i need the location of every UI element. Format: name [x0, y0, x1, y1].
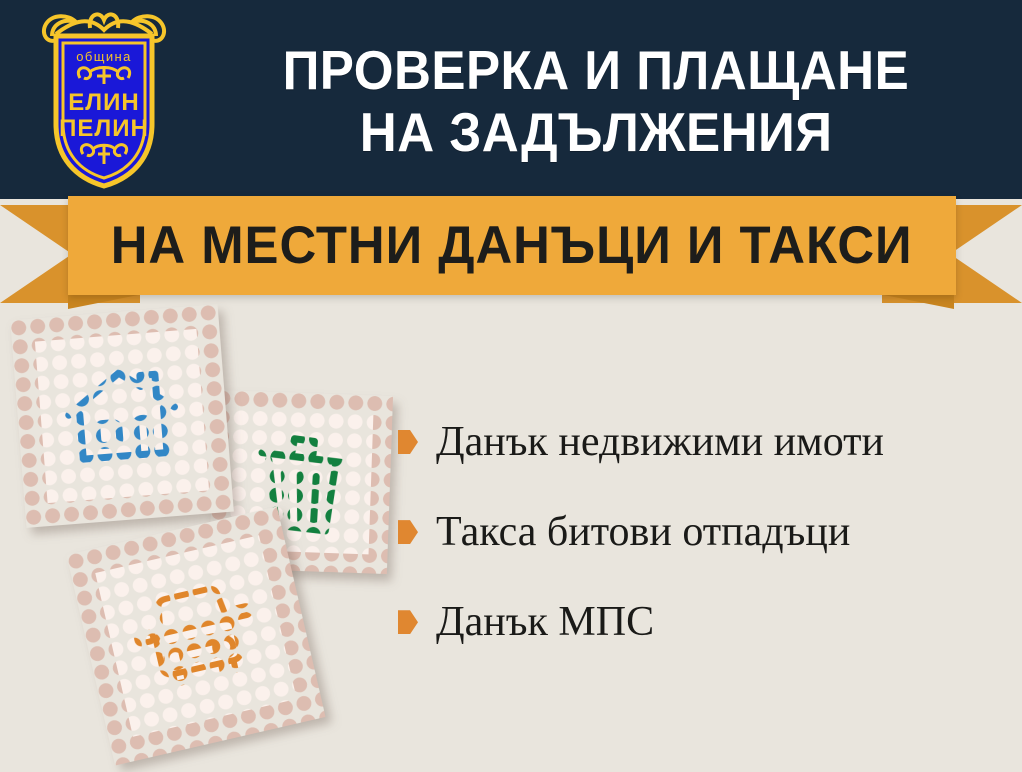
list-item: Такса битови отпадъци — [398, 510, 1010, 554]
list-item-label: Данък недвижими имоти — [436, 420, 884, 464]
list-item-label: Данък МПС — [436, 600, 654, 644]
house-icon — [59, 360, 185, 473]
stamp-inner — [35, 329, 209, 503]
bullet-arrow-icon — [398, 520, 418, 544]
stamp-inner — [95, 535, 296, 736]
crest-word-obshtina: община — [76, 49, 131, 64]
title-line-2: НА ЗАДЪЛЖЕНИЯ — [360, 104, 833, 160]
poster-title: ПРОВЕРКА И ПЛАЩАНЕ НА ЗАДЪЛЖЕНИЯ — [186, 16, 1006, 186]
ribbon-panel: НА МЕСТНИ ДАНЪЦИ И ТАКСИ — [68, 196, 956, 295]
stamp-card-property — [10, 304, 234, 528]
bullet-arrow-icon — [398, 430, 418, 454]
tax-type-list: Данък недвижими имоти Такса битови отпад… — [398, 420, 1010, 690]
list-item: Данък недвижими имоти — [398, 420, 1010, 464]
title-line-1: ПРОВЕРКА И ПЛАЩАНЕ — [283, 42, 910, 98]
list-item: Данък МПС — [398, 600, 1010, 644]
subtitle-ribbon: НА МЕСТНИ ДАНЪЦИ И ТАКСИ — [0, 196, 1022, 316]
poster-root: община ЕЛИН ПЕЛИН ПРОВЕРКА И ПЛАЩ — [0, 0, 1022, 772]
ribbon-label: НА МЕСТНИ ДАНЪЦИ И ТАКСИ — [111, 215, 913, 276]
list-item-label: Такса битови отпадъци — [436, 510, 850, 554]
crest-name-line-1: ЕЛИН — [68, 89, 139, 116]
municipality-crest-logo: община ЕЛИН ПЕЛИН — [28, 6, 180, 192]
bullet-arrow-icon — [398, 610, 418, 634]
car-icon — [125, 575, 267, 696]
crest-name-line-2: ПЕЛИН — [59, 115, 149, 142]
